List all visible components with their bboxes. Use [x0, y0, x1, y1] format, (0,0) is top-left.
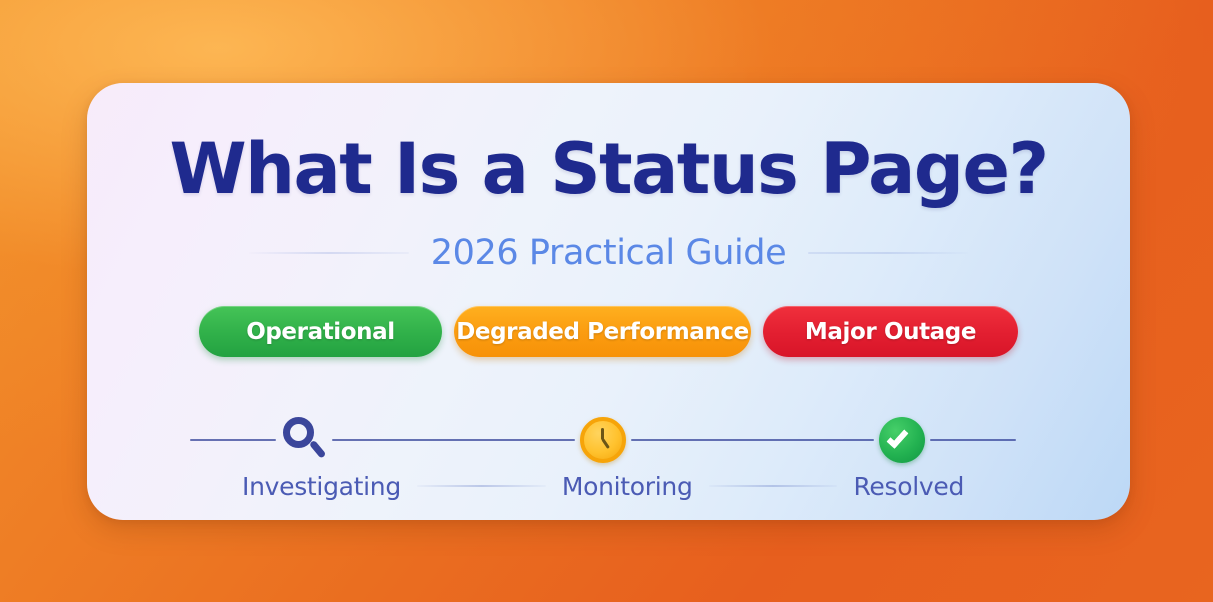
page-subtitle: 2026 Practical Guide	[431, 233, 787, 273]
magnifier-handle	[309, 440, 327, 459]
subtitle-rule-right	[808, 252, 968, 254]
timeline-segment-two	[631, 439, 874, 441]
timeline-label-monitoring: Monitoring	[562, 472, 693, 501]
check-mark	[886, 426, 908, 449]
hero-card: What Is a Status Page? 2026 Practical Gu…	[87, 83, 1130, 520]
timeline-node-resolved[interactable]	[874, 417, 930, 463]
incident-timeline: Investigating Monitoring Resolved	[190, 391, 1016, 491]
subtitle-row: 2026 Practical Guide	[87, 232, 1130, 274]
check-circle-icon	[879, 417, 925, 463]
timeline-label-resolved: Resolved	[853, 472, 964, 501]
timeline-segment-start	[190, 439, 276, 441]
label-rule-two	[709, 485, 838, 487]
timeline-node-monitoring[interactable]	[575, 417, 631, 463]
timeline-label-investigating: Investigating	[242, 472, 401, 501]
page-title: What Is a Status Page?	[87, 134, 1130, 204]
timeline-track	[190, 417, 1016, 463]
timeline-segment-one	[332, 439, 575, 441]
clock-icon	[580, 417, 626, 463]
timeline-node-investigating[interactable]	[276, 417, 332, 463]
status-badge-degraded[interactable]: Degraded Performance	[454, 306, 751, 357]
subtitle-rule-left	[249, 252, 409, 254]
status-badge-outage[interactable]: Major Outage	[763, 306, 1018, 357]
clock-hand-minute	[601, 438, 610, 449]
status-badge-row: Operational Degraded Performance Major O…	[87, 306, 1130, 357]
timeline-segment-end	[930, 439, 1016, 441]
poster-background: What Is a Status Page? 2026 Practical Gu…	[0, 0, 1213, 602]
label-rule-one	[417, 485, 546, 487]
status-badge-operational[interactable]: Operational	[199, 306, 442, 357]
timeline-label-row: Investigating Monitoring Resolved	[190, 469, 1016, 503]
magnifying-glass-icon	[281, 417, 327, 463]
